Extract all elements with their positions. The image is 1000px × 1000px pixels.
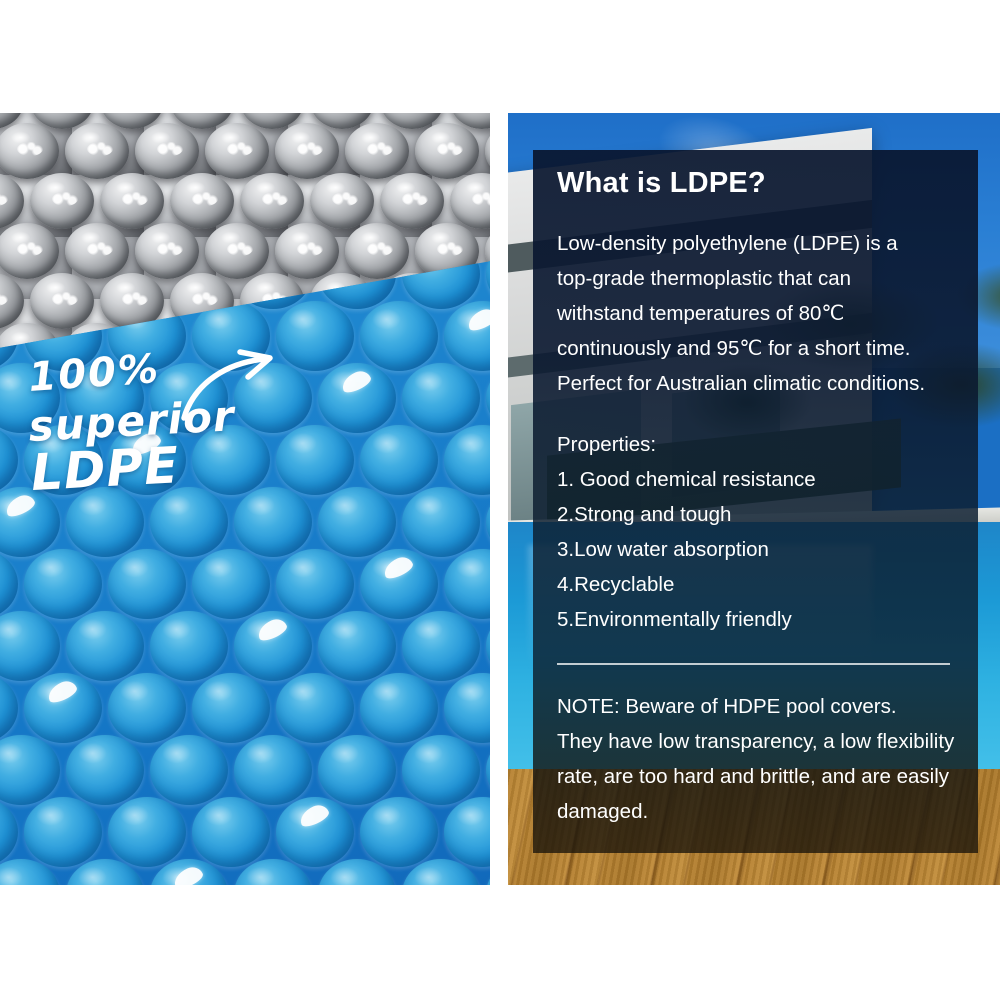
blue-bubble [360,301,438,371]
product-infographic: 100% superior LDPE [0,0,1000,1000]
property-item: 4.Recyclable [557,567,957,602]
blue-bubble [444,797,490,867]
blue-bubble [360,549,438,619]
blue-bubble [360,673,438,743]
silver-bubble [30,173,94,229]
blue-bubble [318,487,396,557]
intro-line: top-grade thermoplastic that can [557,261,957,296]
blue-bubble [24,425,102,495]
blue-bubble [486,611,490,681]
note-line: NOTE: Beware of HDPE pool covers. [557,689,957,724]
blue-bubble [150,735,228,805]
blue-bubble [192,549,270,619]
blue-bubble [66,487,144,557]
silver-bubble [345,223,409,279]
silver-bubble [0,223,59,279]
blue-bubble [276,673,354,743]
silver-bubble [415,123,479,179]
blue-bubble [0,735,60,805]
blue-bubble [192,673,270,743]
blue-bubble [108,673,186,743]
blue-bubble [444,673,490,743]
blue-bubble [318,363,396,433]
blue-bubble [318,611,396,681]
silver-bubble [205,123,269,179]
blue-bubble [234,363,312,433]
blue-bubble [0,363,60,433]
property-item: 5.Environmentally friendly [557,602,957,637]
silver-bubble [205,223,269,279]
silver-bubble [100,173,164,229]
blue-bubble [444,549,490,619]
blue-bubble [402,487,480,557]
property-item: 2.Strong and tough [557,497,957,532]
blue-bubble [0,673,18,743]
blue-bubble [276,301,354,371]
silver-bubble [240,173,304,229]
intro-line: continuously and 95℃ for a short time. [557,331,957,366]
overlay-intro-paragraph: Low-density polyethylene (LDPE) is a top… [557,226,957,401]
blue-bubble [486,487,490,557]
silver-bubble [485,123,490,179]
blue-bubble [24,673,102,743]
blue-bubble [150,363,228,433]
blue-bubble [192,797,270,867]
section-divider [557,663,950,665]
silver-bubble [310,173,374,229]
blue-bubble [444,425,490,495]
blue-bubble [402,363,480,433]
note-line: rate, are too hard and brittle, and are … [557,759,957,794]
blue-bubble [150,487,228,557]
blue-bubble [0,549,18,619]
property-item: 3.Low water absorption [557,532,957,567]
blue-bubble [486,735,490,805]
blue-bubble [402,735,480,805]
silver-bubble [0,123,59,179]
blue-bubble [360,797,438,867]
blue-bubble [444,301,490,371]
silver-bubble [135,123,199,179]
blue-bubble [66,735,144,805]
blue-bubble [66,363,144,433]
silver-bubble [30,273,94,329]
silver-bubble [345,123,409,179]
intro-line: Perfect for Australian climatic conditio… [557,366,957,401]
right-panel-info: What is LDPE? Low-density polyethylene (… [508,113,1000,885]
blue-bubble [360,425,438,495]
silver-bubble [170,173,234,229]
properties-list: Properties: 1. Good chemical resistance … [557,427,957,637]
blue-bubble [234,487,312,557]
silver-bubble [65,123,129,179]
intro-line: withstand temperatures of 80℃ [557,296,957,331]
property-item: 1. Good chemical resistance [557,462,957,497]
blue-bubble [276,549,354,619]
blue-bubble [108,797,186,867]
note-block: NOTE: Beware of HDPE pool covers. They h… [557,689,957,829]
silver-bubble [275,223,339,279]
left-panel-product-photo: 100% superior LDPE [0,113,490,885]
note-line: They have low transparency, a low flexib… [557,724,957,759]
blue-bubble [192,425,270,495]
silver-bubble [450,173,490,229]
overlay-content: What is LDPE? Low-density polyethylene (… [557,168,957,829]
blue-bubble [0,425,18,495]
note-line: damaged. [557,794,957,829]
blue-bubble [318,735,396,805]
blue-bubble [234,611,312,681]
blue-bubble [402,611,480,681]
blue-bubble [0,487,60,557]
blue-bubble [0,797,18,867]
blue-bubble [66,611,144,681]
silver-bubble [0,173,24,229]
blue-bubble [108,549,186,619]
blue-bubble [234,735,312,805]
spacer [557,401,957,427]
blue-bubble [150,611,228,681]
blue-bubble [24,797,102,867]
properties-heading: Properties: [557,427,957,462]
silver-bubble [380,173,444,229]
blue-bubble [276,425,354,495]
blue-bubble [0,611,60,681]
intro-line: Low-density polyethylene (LDPE) is a [557,226,957,261]
silver-bubble [135,223,199,279]
silver-bubble [275,123,339,179]
overlay-title: What is LDPE? [557,168,957,200]
blue-bubble [276,797,354,867]
blue-bubble [108,425,186,495]
silver-bubble [0,273,24,329]
blue-bubble [24,549,102,619]
blue-bubble [486,363,490,433]
silver-bubble [65,223,129,279]
